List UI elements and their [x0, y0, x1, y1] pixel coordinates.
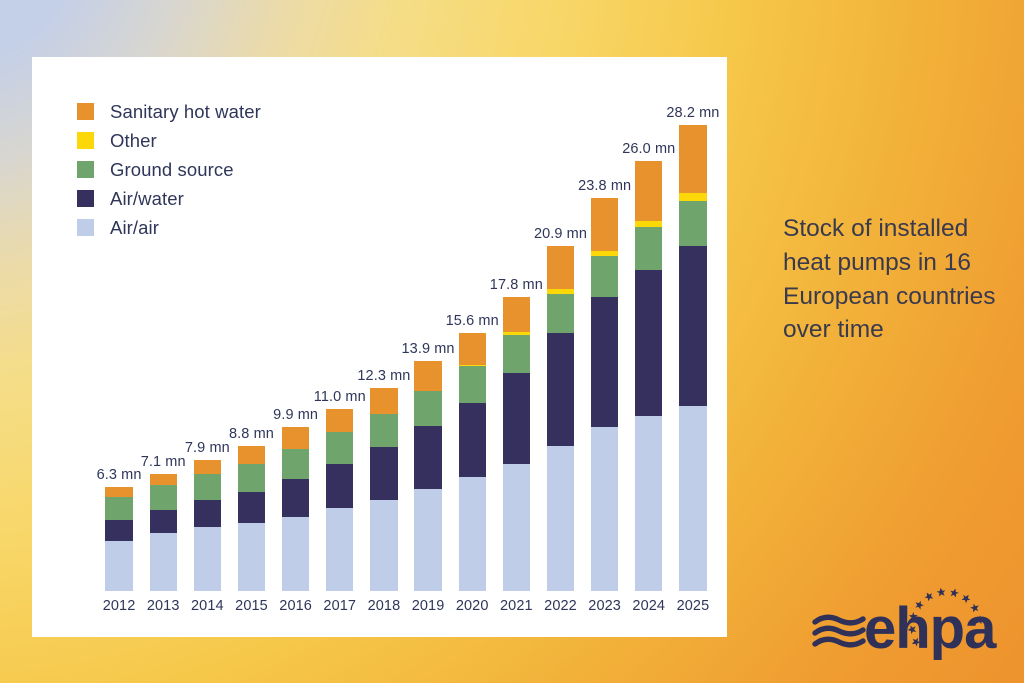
slide-canvas: Sanitary hot water Other Ground source A… [0, 0, 1024, 683]
bar-stack: 20.9 mn [547, 246, 574, 591]
bar-segment-air-water [150, 510, 177, 533]
bar-segment-ground-source [150, 485, 177, 510]
bar-column-2014[interactable]: 20147.9 mn [194, 87, 221, 591]
bar-segment-air-water [459, 403, 486, 477]
bar-stack: 12.3 mn [370, 388, 397, 591]
bar-column-2017[interactable]: 201711.0 mn [326, 87, 353, 591]
bar-column-2020[interactable]: 202015.6 mn [459, 87, 486, 591]
bar-segment-sanitary-hot-water [503, 297, 530, 332]
bar-column-2022[interactable]: 202220.9 mn [547, 87, 574, 591]
bar-segment-ground-source [459, 366, 486, 402]
bar-segment-sanitary-hot-water [370, 388, 397, 414]
legend-swatch-air-air [77, 219, 94, 236]
bar-segment-air-water [326, 464, 353, 509]
bar-stack: 15.6 mn [459, 333, 486, 591]
bar-segment-air-water [105, 520, 132, 541]
bar-column-2023[interactable]: 202323.8 mn [591, 87, 618, 591]
bar-total-label: 12.3 mn [357, 368, 410, 384]
bar-segment-air-air [326, 508, 353, 591]
x-axis-tick-2021: 2021 [500, 598, 533, 614]
bar-stack: 11.0 mn [326, 409, 353, 591]
bar-segment-sanitary-hot-water [150, 474, 177, 486]
bar-segment-air-water [238, 492, 265, 523]
logo-wordmark: ehpa [864, 596, 997, 661]
bar-segment-sanitary-hot-water [238, 446, 265, 464]
bar-segment-ground-source [414, 391, 441, 426]
bar-total-label: 7.9 mn [185, 440, 230, 456]
bar-stack: 23.8 mn [591, 198, 618, 591]
ehpa-logo: ehpa [812, 586, 1008, 668]
bar-segment-air-air [150, 533, 177, 591]
bar-segment-ground-source [635, 227, 662, 270]
bar-segment-air-water [547, 333, 574, 445]
bar-segment-sanitary-hot-water [591, 198, 618, 251]
x-axis-tick-2015: 2015 [235, 598, 268, 614]
bar-column-2013[interactable]: 20137.1 mn [150, 87, 177, 591]
bar-column-2016[interactable]: 20169.9 mn [282, 87, 309, 591]
bar-stack: 13.9 mn [414, 361, 441, 591]
bar-column-2019[interactable]: 201913.9 mn [414, 87, 441, 591]
bar-segment-air-air [105, 541, 132, 591]
bar-segment-sanitary-hot-water [459, 333, 486, 364]
waves-icon [815, 617, 863, 645]
bar-total-label: 7.1 mn [141, 454, 186, 470]
bar-segment-sanitary-hot-water [194, 460, 221, 473]
x-axis-tick-2019: 2019 [412, 598, 445, 614]
bar-total-label: 15.6 mn [446, 313, 499, 329]
x-axis-tick-2014: 2014 [191, 598, 224, 614]
bar-segment-air-water [282, 479, 309, 517]
bar-segment-air-air [194, 527, 221, 591]
bar-segment-air-air [414, 489, 441, 591]
bar-segment-ground-source [194, 474, 221, 500]
bar-segment-air-air [503, 464, 530, 591]
bar-total-label: 13.9 mn [402, 341, 455, 357]
bar-total-label: 23.8 mn [578, 178, 631, 194]
bar-column-2025[interactable]: 202528.2 mn [679, 87, 706, 591]
slide-caption: Stock of installed heat pumps in 16 Euro… [783, 212, 1008, 347]
bar-segment-sanitary-hot-water [547, 246, 574, 289]
legend-swatch-ground-source [77, 161, 94, 178]
bar-segment-air-water [414, 426, 441, 489]
bar-stack: 9.9 mn [282, 427, 309, 591]
bar-segment-ground-source [105, 497, 132, 520]
bar-segment-ground-source [326, 432, 353, 463]
bar-segment-ground-source [503, 335, 530, 373]
bar-segment-ground-source [591, 256, 618, 297]
x-axis-tick-2024: 2024 [632, 598, 665, 614]
bar-segment-air-air [679, 406, 706, 591]
bar-segment-air-air [591, 427, 618, 591]
bar-segment-other [635, 221, 662, 228]
bar-total-label: 17.8 mn [490, 277, 543, 293]
bar-segment-sanitary-hot-water [105, 487, 132, 497]
bar-segment-sanitary-hot-water [679, 125, 706, 193]
bar-segment-sanitary-hot-water [635, 161, 662, 220]
bar-segment-sanitary-hot-water [326, 409, 353, 432]
bar-segment-air-air [370, 500, 397, 591]
bar-stack: 28.2 mn [679, 125, 706, 591]
bar-stack: 8.8 mn [238, 446, 265, 591]
bar-total-label: 28.2 mn [666, 105, 719, 121]
bar-segment-ground-source [679, 201, 706, 246]
x-axis-tick-2025: 2025 [677, 598, 710, 614]
bar-segment-ground-source [370, 414, 397, 447]
bar-stack: 6.3 mn [105, 487, 132, 591]
x-axis-tick-2012: 2012 [103, 598, 136, 614]
legend-swatch-sanitary-hot-water [77, 103, 94, 120]
bar-total-label: 20.9 mn [534, 226, 587, 242]
bar-stack: 17.8 mn [503, 297, 530, 591]
bar-total-label: 11.0 mn [314, 389, 366, 405]
bar-segment-air-water [591, 297, 618, 428]
x-axis-tick-2018: 2018 [368, 598, 401, 614]
x-axis-tick-2016: 2016 [279, 598, 312, 614]
x-axis-tick-2020: 2020 [456, 598, 489, 614]
bar-segment-air-air [459, 477, 486, 591]
bar-segment-air-water [194, 500, 221, 526]
bar-segment-air-water [635, 270, 662, 415]
bar-total-label: 9.9 mn [273, 407, 318, 423]
bar-segment-sanitary-hot-water [414, 361, 441, 391]
x-axis-tick-2017: 2017 [323, 598, 356, 614]
bar-column-2012[interactable]: 20126.3 mn [105, 87, 132, 591]
x-axis-tick-2022: 2022 [544, 598, 577, 614]
bar-column-2015[interactable]: 20158.8 mn [238, 87, 265, 591]
bar-total-label: 8.8 mn [229, 426, 274, 442]
bar-column-2021[interactable]: 202117.8 mn [503, 87, 530, 591]
bar-segment-air-air [282, 517, 309, 591]
bar-segment-ground-source [547, 294, 574, 334]
x-axis-tick-2023: 2023 [588, 598, 621, 614]
legend-swatch-other [77, 132, 94, 149]
bar-stack: 7.9 mn [194, 460, 221, 591]
bar-segment-air-water [503, 373, 530, 464]
bar-total-label: 26.0 mn [622, 141, 675, 157]
legend-swatch-air-water [77, 190, 94, 207]
bar-segment-air-water [679, 246, 706, 406]
bar-total-label: 6.3 mn [97, 467, 142, 483]
bar-segment-other [679, 193, 706, 201]
bar-segment-ground-source [238, 464, 265, 492]
bar-segment-air-water [370, 447, 397, 500]
bar-column-2018[interactable]: 201812.3 mn [370, 87, 397, 591]
bar-segment-air-air [238, 523, 265, 591]
bar-segment-ground-source [282, 449, 309, 479]
bar-segment-air-air [635, 416, 662, 591]
plot-area: 20126.3 mn20137.1 mn20147.9 mn20158.8 mn… [97, 87, 715, 591]
x-axis-tick-2013: 2013 [147, 598, 180, 614]
chart-panel: Sanitary hot water Other Ground source A… [32, 57, 727, 637]
bar-stack: 26.0 mn [635, 161, 662, 591]
bar-column-2024[interactable]: 202426.0 mn [635, 87, 662, 591]
bar-stack: 7.1 mn [150, 474, 177, 591]
bar-segment-air-air [547, 446, 574, 591]
bar-segment-sanitary-hot-water [282, 427, 309, 448]
